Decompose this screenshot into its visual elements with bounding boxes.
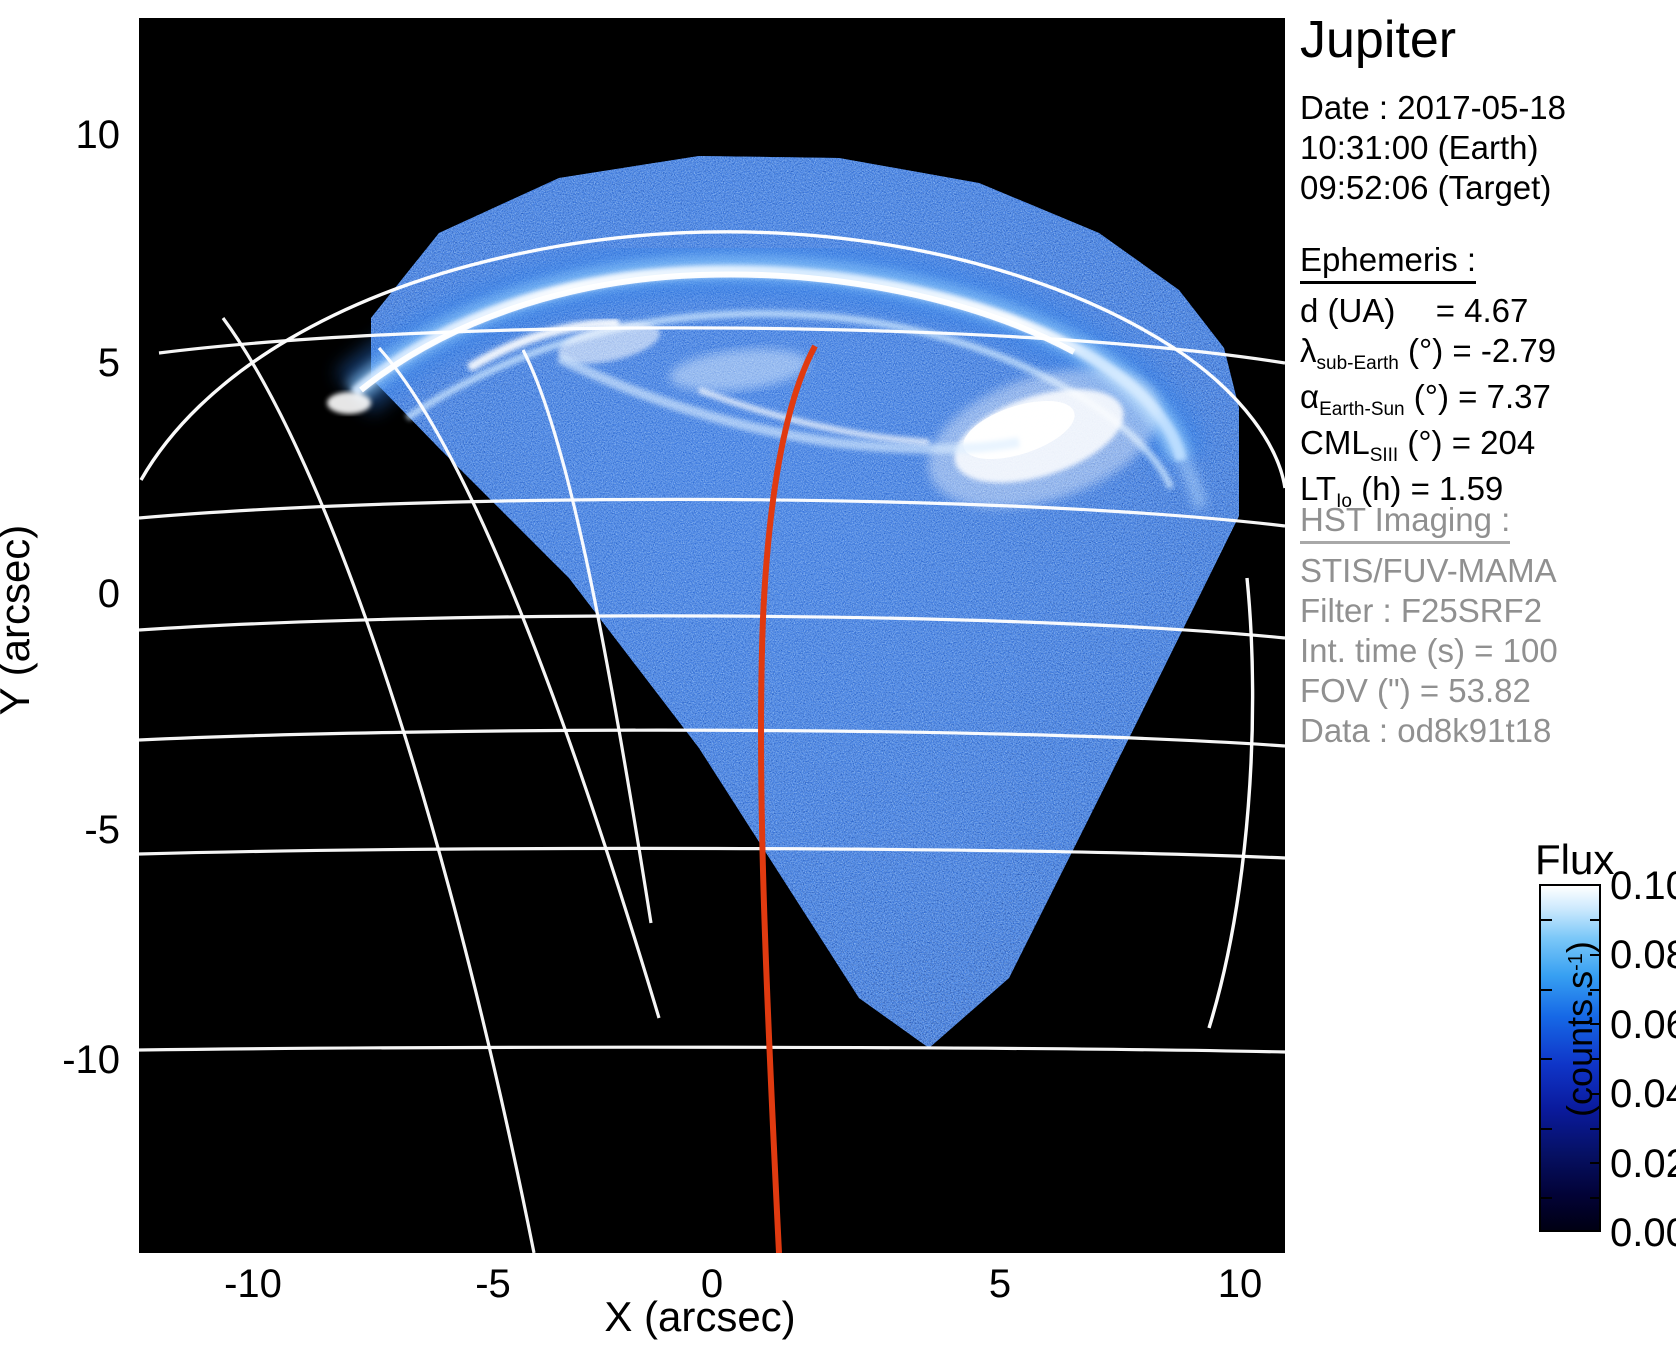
- lambda-subscript: sub-Earth: [1317, 353, 1399, 374]
- colorbar-tick-000: 0.00: [1610, 1213, 1676, 1253]
- lambda-unit: (°): [1408, 332, 1443, 369]
- cml-subscript: SIII: [1370, 445, 1399, 466]
- cml-symbol: CML: [1300, 424, 1370, 461]
- ytick-neg5: -5: [28, 810, 120, 850]
- observation-time-earth: 10:31:00 (Earth): [1300, 128, 1676, 168]
- ephemeris-block: Ephemeris : d (UA) = 4.67 λsub-Earth (°)…: [1300, 240, 1676, 515]
- xtick-10: 10: [1180, 1264, 1300, 1304]
- ephemeris-distance-name: d (UA): [1300, 292, 1395, 329]
- colorbar-tick-004: 0.04: [1610, 1074, 1676, 1114]
- alpha-unit: (°): [1414, 378, 1449, 415]
- image-plot-area: [139, 18, 1285, 1253]
- page-title: Jupiter: [1300, 12, 1456, 68]
- colorbar-minor-tick-left: [1541, 919, 1552, 921]
- ephemeris-row-distance: d (UA) = 4.67: [1300, 291, 1676, 331]
- ephemeris-row-sub-earth-latitude: λsub-Earth (°) = -2.79: [1300, 331, 1676, 377]
- hst-data-id: Data : od8k91t18: [1300, 711, 1676, 751]
- colorbar-unit-close: ): [1559, 941, 1600, 953]
- ephemeris-distance-value: = 4.67: [1436, 292, 1529, 329]
- hst-instrument: STIS/FUV-MAMA: [1300, 551, 1676, 591]
- lambda-value: = -2.79: [1452, 332, 1556, 369]
- colorbar-tick-008: 0.08: [1610, 935, 1676, 975]
- ytick-neg10: -10: [18, 1040, 120, 1080]
- hst-fov: FOV (") = 53.82: [1300, 671, 1676, 711]
- x-axis-label: X (arcsec): [400, 1296, 1000, 1338]
- ytick-5: 5: [40, 343, 120, 383]
- xtick-neg10: -10: [193, 1264, 313, 1304]
- colorbar-tick-002: 0.02: [1610, 1144, 1676, 1184]
- alpha-value: = 7.37: [1458, 378, 1551, 415]
- colorbar-tick-006: 0.06: [1610, 1005, 1676, 1045]
- cml-unit: (°): [1407, 424, 1442, 461]
- colorbar-unit-exponent: -1: [1565, 953, 1587, 971]
- colorbar-minor-tick-left: [1541, 1058, 1552, 1060]
- observation-block: Date : 2017-05-18 10:31:00 (Earth) 09:52…: [1300, 88, 1676, 208]
- hst-int-time: Int. time (s) = 100: [1300, 631, 1676, 671]
- colorbar-unit-label: (counts.s-1): [1561, 879, 1605, 1179]
- observation-time-target: 09:52:06 (Target): [1300, 168, 1676, 208]
- ephemeris-header: Ephemeris :: [1300, 240, 1476, 284]
- colorbar-tick-010: 0.10: [1610, 866, 1676, 906]
- ytick-0: 0: [40, 574, 120, 614]
- hst-filter: Filter : F25SRF2: [1300, 591, 1676, 631]
- ephemeris-row-phase-angle: αEarth-Sun (°) = 7.37: [1300, 377, 1676, 423]
- hst-imaging-header: HST Imaging :: [1300, 500, 1510, 544]
- colorbar-minor-tick: [1590, 1197, 1601, 1199]
- cml-value: = 204: [1452, 424, 1536, 461]
- lambda-symbol: λ: [1300, 332, 1317, 369]
- colorbar-title: Flux: [1535, 838, 1614, 882]
- alpha-symbol: α: [1300, 378, 1319, 415]
- figure-root: 10 5 0 -5 -10 -10 -5 0 5 10 Y (arcsec) X…: [0, 0, 1676, 1367]
- y-axis-label: Y (arcsec): [0, 470, 36, 770]
- ephemeris-row-cml: CMLSIII (°) = 204: [1300, 423, 1676, 469]
- observation-date: Date : 2017-05-18: [1300, 88, 1676, 128]
- jupiter-aurora-image: [139, 18, 1285, 1253]
- colorbar-minor-tick-left: [1541, 1128, 1552, 1130]
- hst-imaging-block: HST Imaging : STIS/FUV-MAMA Filter : F25…: [1300, 500, 1676, 751]
- colorbar-unit-text: (counts.s: [1559, 971, 1600, 1117]
- colorbar-minor-tick-left: [1541, 989, 1552, 991]
- alpha-subscript: Earth-Sun: [1319, 399, 1405, 420]
- ytick-10: 10: [40, 115, 120, 155]
- colorbar-minor-tick-left: [1541, 1197, 1552, 1199]
